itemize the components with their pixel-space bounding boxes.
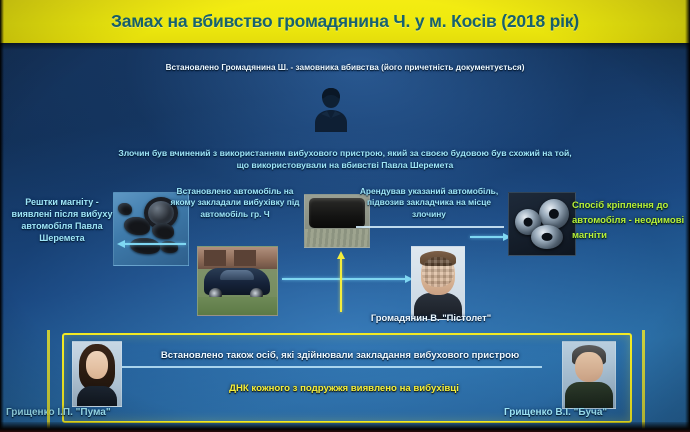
neodymium-magnets-photo xyxy=(508,192,576,256)
person-bucha-photo xyxy=(562,341,616,409)
magnet-remains-text: Рештки магніту - виявлені після вибуху а… xyxy=(8,196,116,245)
top-statement-text: Встановлено Громадянина Ш. - замовника в… xyxy=(120,62,570,73)
arrow-to-magnet-text xyxy=(124,243,186,245)
suspect-car-photo xyxy=(197,246,278,316)
suspect-pistolet-photo xyxy=(411,246,465,320)
right-edge-shadow xyxy=(685,0,690,432)
left-edge-shadow xyxy=(0,0,4,432)
bottom-edge-shadow xyxy=(0,422,690,432)
middle-statement-text: Злочин був вчинений з використанням вибу… xyxy=(115,148,575,171)
arrow-to-magnets xyxy=(470,236,504,238)
caption-suspect-pistolet: Громадянин В. "Пістолет" xyxy=(338,312,524,325)
anonymous-person-icon xyxy=(313,84,349,132)
bottom-statement-line2: ДНК кожного з подружжя виявлено на вибух… xyxy=(168,383,520,396)
arrow-up-to-suspect xyxy=(340,258,342,312)
bottom-divider-line xyxy=(72,366,542,368)
left-yellow-rail xyxy=(47,330,50,432)
person-puma-photo xyxy=(72,341,122,407)
attachment-method-text: Спосіб кріплення до автомобіля - неодимо… xyxy=(572,198,688,244)
bottom-statement-line1: Встановлено також осіб, які здійнювали з… xyxy=(122,350,558,363)
car-identified-text: Встановлено автомобіль на якому закладал… xyxy=(170,186,300,220)
rented-car-underline xyxy=(356,226,504,228)
right-yellow-rail xyxy=(642,330,645,432)
caption-person-bucha: Грищенко В.І. "Буча" xyxy=(504,406,690,420)
slide-title: Замах на вбивство громадянина Ч. у м. Ко… xyxy=(111,11,579,32)
rented-car-text: Арендував указаний автомобіль, підвозив … xyxy=(356,186,502,220)
arrow-car-to-suspect xyxy=(282,278,406,280)
presentation-slide-screenshot: Замах на вбивство громадянина Ч. у м. Ко… xyxy=(0,0,690,432)
title-banner: Замах на вбивство громадянина Ч. у м. Ко… xyxy=(0,0,690,43)
caption-person-puma: Грищенко І.П. "Пума" xyxy=(6,406,194,420)
banner-shadow xyxy=(0,43,690,50)
